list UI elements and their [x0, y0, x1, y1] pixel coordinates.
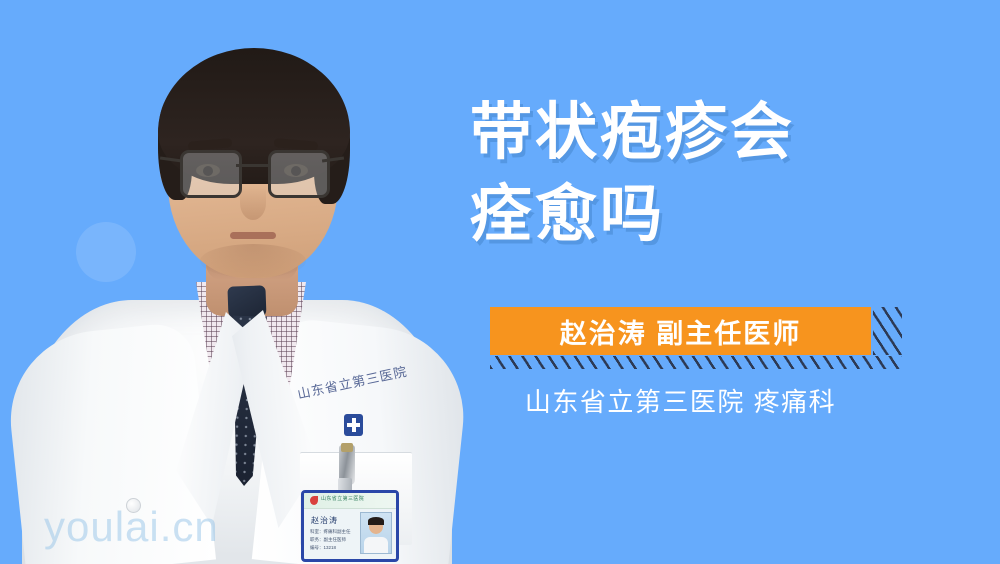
hospital-department-subtitle: 山东省立第三医院 疼痛科 [490, 382, 871, 419]
badge-line-2: 职务：副主任医师 [310, 537, 346, 543]
pen-cap [341, 443, 353, 452]
badge-photo [360, 512, 392, 554]
hatch-pattern-right [873, 307, 902, 355]
doctor-name-banner: 赵治涛 副主任医师 [490, 307, 871, 355]
badge-header: 山东省立第三医院 [304, 493, 396, 509]
medical-cross-icon [344, 414, 363, 436]
badge-line-3: 编号：13218 [310, 545, 336, 551]
id-badge: 山东省立第三医院 赵治涛 科室：疼痛科副主任 职务：副主任医师 编号：13218 [301, 490, 399, 562]
eyeglass-bridge [236, 164, 268, 167]
title-block: 带状疱疹会 痊愈吗 [470, 92, 940, 257]
eyeglass-lens-right [268, 150, 330, 198]
badge-photo-body [364, 537, 388, 553]
title-line-2: 痊愈吗 [470, 174, 940, 256]
watermark: youlai.cn [44, 503, 219, 551]
badge-hospital-name: 山东省立第三医院 [321, 495, 364, 502]
mouth [230, 232, 276, 239]
video-thumbnail-canvas: 山东省立第三医院 山东省立第三医院 赵治涛 科室：疼痛科副主任 职务：副主任医师… [0, 0, 1000, 564]
eyeglass-lens-left [180, 150, 242, 198]
nose [240, 186, 266, 220]
title-line-1: 带状疱疹会 [470, 92, 940, 174]
hospital-logo-icon [310, 496, 318, 505]
doctor-name-text: 赵治涛 副主任医师 [560, 312, 802, 351]
chin-shadow [200, 244, 306, 278]
hatch-pattern-bottom [490, 356, 902, 369]
badge-line-1: 科室：疼痛科副主任 [310, 529, 351, 535]
doctor-portrait: 山东省立第三医院 山东省立第三医院 赵治涛 科室：疼痛科副主任 职务：副主任医师… [0, 0, 470, 564]
badge-photo-hair [368, 517, 384, 525]
badge-name: 赵治涛 [311, 515, 338, 526]
